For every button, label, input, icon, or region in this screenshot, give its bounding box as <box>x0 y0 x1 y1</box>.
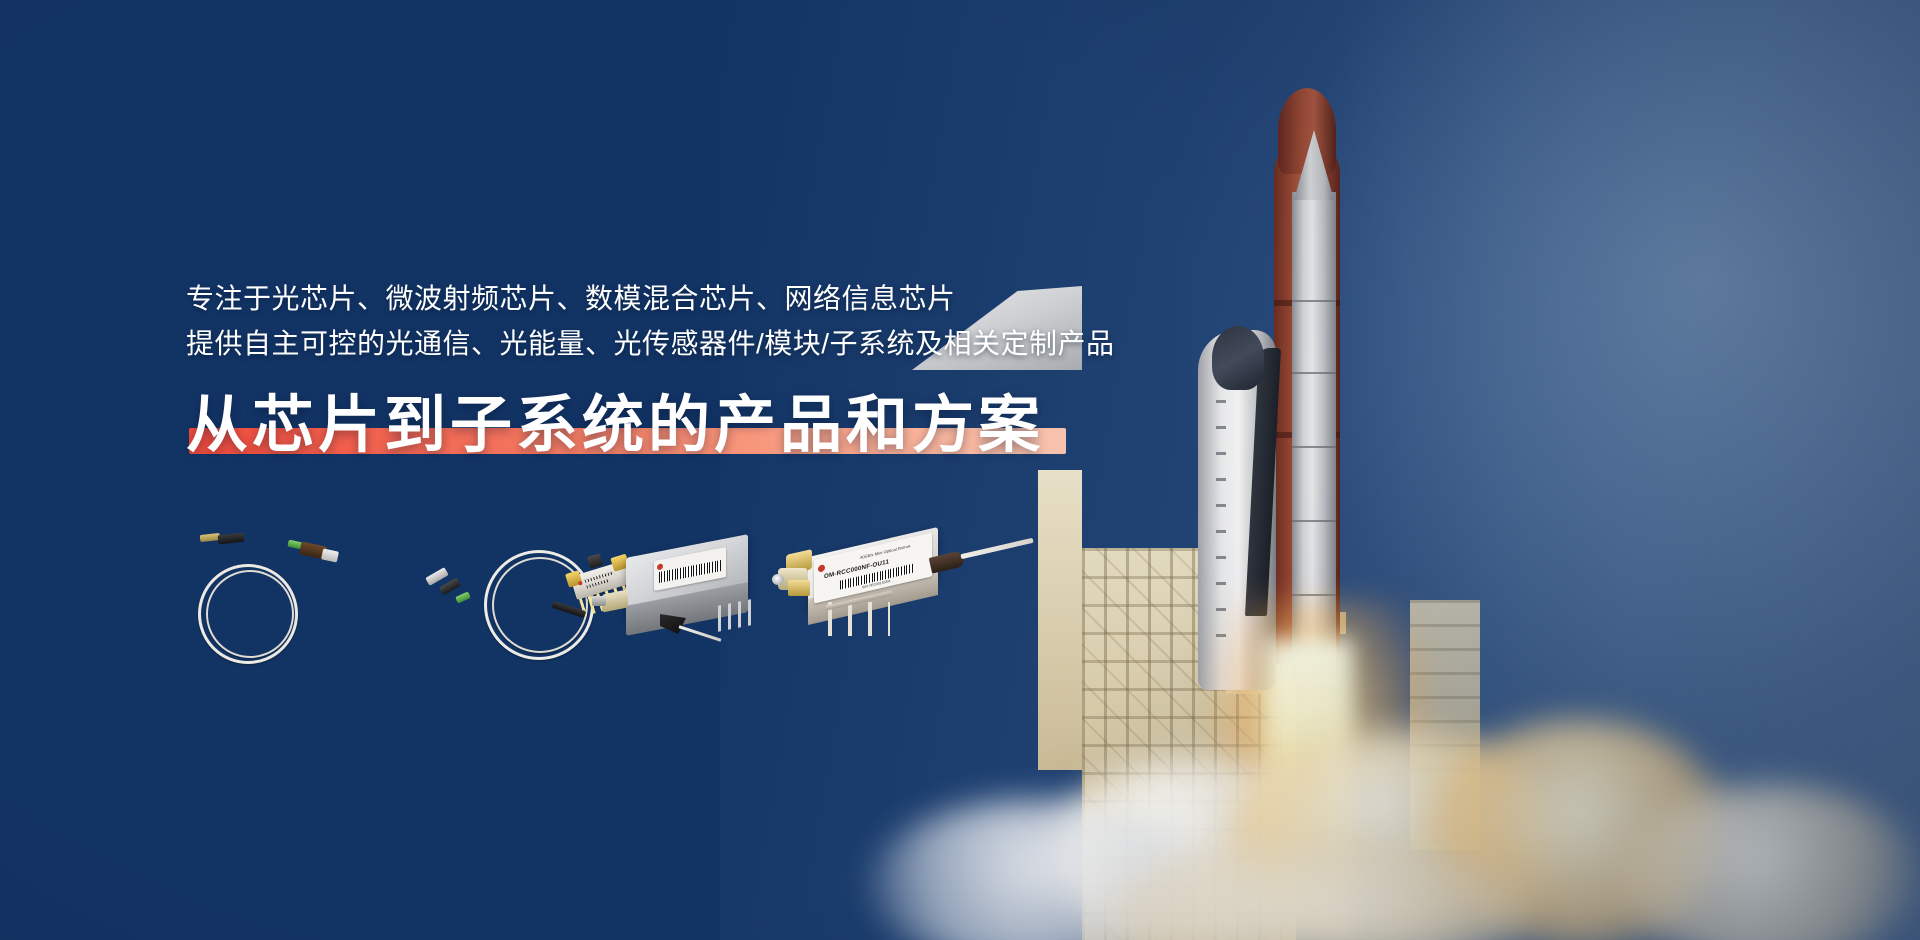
sma-connector-pin <box>772 574 784 585</box>
hero-banner: 专注于光芯片、微波射频芯片、数模混合芯片、网络信息芯片 提供自主可控的光通信、光… <box>0 0 1920 940</box>
fiber-connector-cap <box>321 548 339 562</box>
srb-segment-joint-5 <box>1292 594 1336 596</box>
barcode <box>659 560 721 583</box>
fiber-cable <box>679 625 722 641</box>
product-mini-optical-receiver: 40Gb/s Mini Optical Rx/mA OM-RCC000NF-OU… <box>776 524 1046 664</box>
product-rf-optical-module <box>598 536 788 666</box>
smoke-cloud <box>930 690 1920 940</box>
space-shuttle-launch-image <box>1030 0 1920 940</box>
fiber-connector-boot <box>439 578 461 596</box>
brand-logo-dot <box>657 563 663 570</box>
srb-segment-joint-4 <box>1292 520 1336 522</box>
brand-logo-dot <box>818 564 825 573</box>
fiber-connector-apc-green <box>455 591 471 603</box>
hero-copy: 专注于光芯片、微波射频芯片、数模混合芯片、网络信息芯片 提供自主可控的光通信、光… <box>186 276 1306 460</box>
product-fiber-pigtail-assembly <box>192 526 362 666</box>
headline-block: 从芯片到子系统的产品和方案 <box>186 391 1044 460</box>
tagline-line-2: 提供自主可控的光通信、光能量、光传感器件/模块/子系统及相关定制产品 <box>186 321 1306 366</box>
fiber-connector-boot <box>218 533 245 545</box>
product-butterfly-laser-module <box>376 544 636 668</box>
product-showcase: 40Gb/s Mini Optical Rx/mA OM-RCC000NF-OU… <box>180 518 1060 678</box>
sma-connector-pin <box>592 596 606 606</box>
gold-connector-block <box>788 580 810 596</box>
fiber-cable <box>960 538 1033 560</box>
fiber-cable-loop <box>206 570 294 658</box>
tagline-line-1: 专注于光芯片、微波射频芯片、数模混合芯片、网络信息芯片 <box>186 276 1306 321</box>
page-title: 从芯片到子系统的产品和方案 <box>186 391 1044 460</box>
